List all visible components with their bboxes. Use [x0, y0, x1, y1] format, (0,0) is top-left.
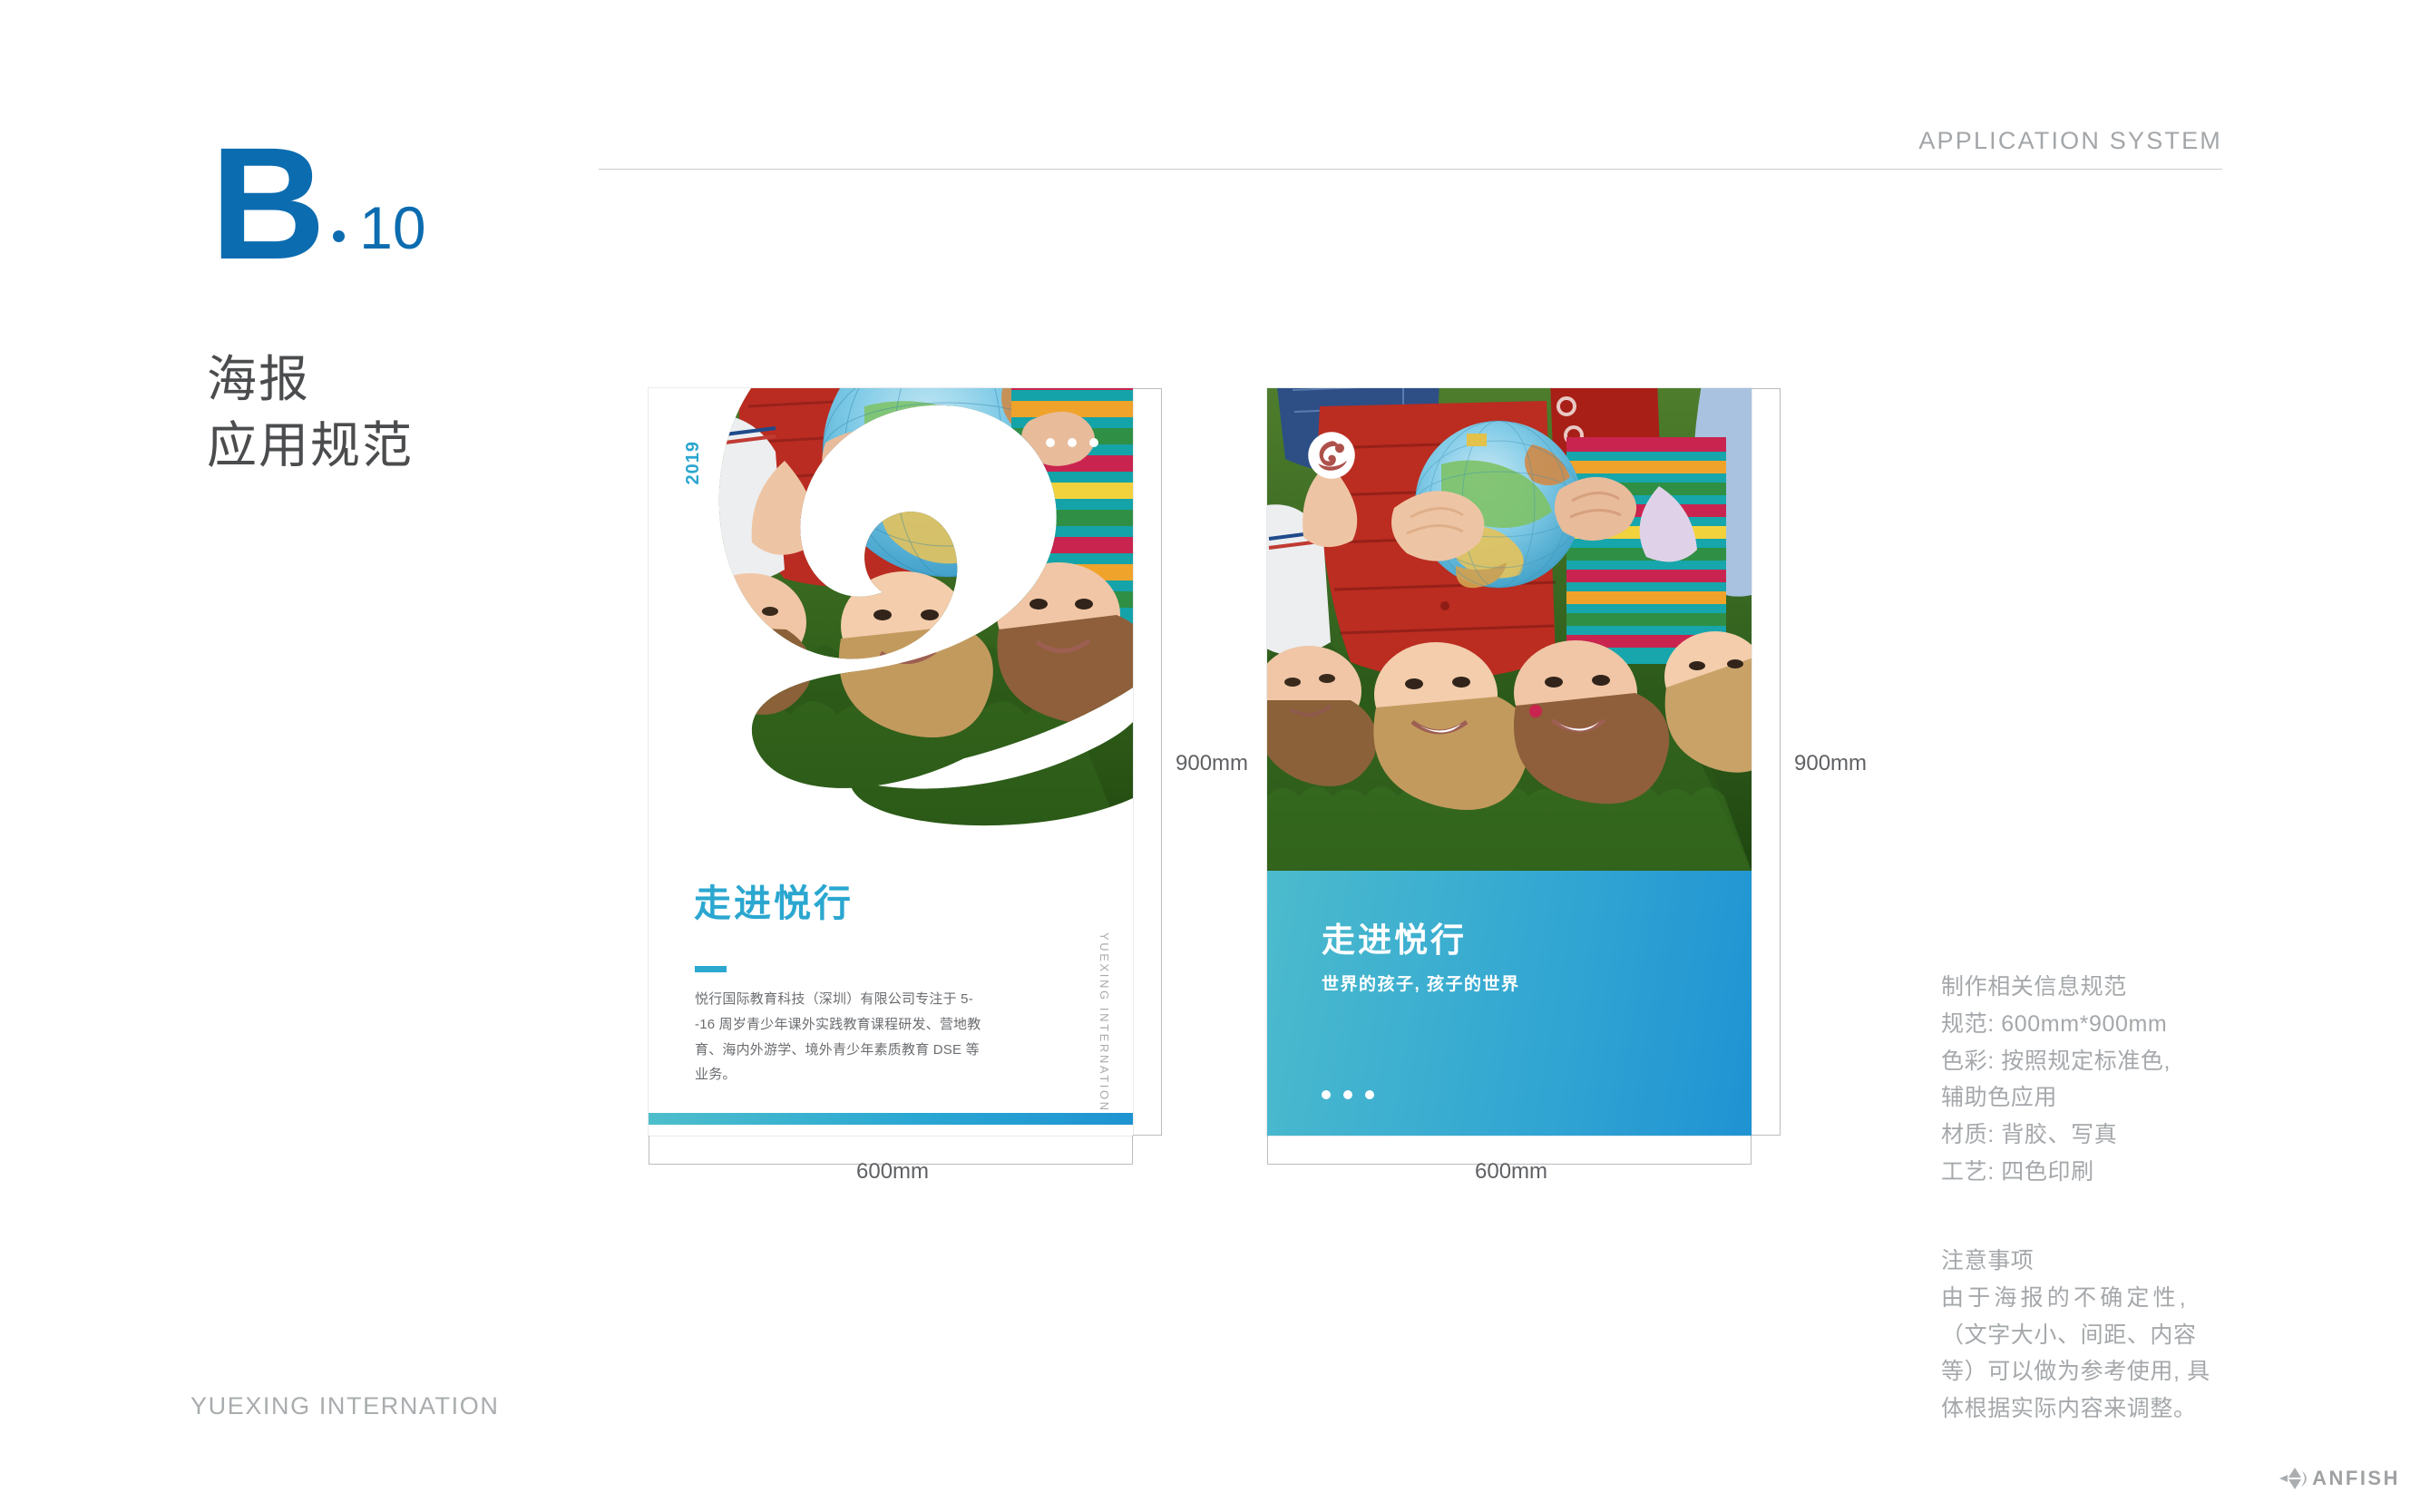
poster-2-height-label: 900mm	[1794, 751, 1867, 776]
poster-2-photo	[1267, 388, 1752, 871]
poster-1-height-label: 900mm	[1176, 751, 1248, 776]
brand-logo-icon	[1306, 430, 1357, 481]
poster-1-footer-bar	[649, 1113, 1133, 1125]
watermark-label: ANFISH	[2312, 1467, 2400, 1490]
notes-line: （文字大小、间距、内容	[1941, 1317, 2249, 1354]
dot	[1365, 1090, 1374, 1099]
page-title: 海报 应用规范	[207, 346, 414, 479]
dot	[1089, 438, 1098, 447]
notes-line: 等）可以做为参考使用, 具	[1941, 1353, 2249, 1390]
poster-1-year: 2019	[683, 441, 704, 485]
poster-1-title: 走进悦行	[694, 873, 854, 927]
spec-line: 色彩: 按照规定标准色,	[1941, 1043, 2249, 1080]
spec-line: 工艺: 四色印刷	[1941, 1154, 2249, 1191]
poster-1-accent-rule	[695, 966, 727, 972]
poster-1-photo	[649, 388, 1133, 864]
section-marker: B 10	[210, 138, 426, 272]
poster-1-height-guide	[1133, 388, 1162, 1136]
dot	[1343, 1090, 1352, 1099]
spec-line: 辅助色应用	[1941, 1079, 2249, 1117]
poster-1-width-label: 600mm	[856, 1159, 929, 1185]
notes-line: 体根据实际内容来调整。	[1941, 1390, 2249, 1428]
page-title-line-1: 海报	[207, 346, 414, 413]
dot	[1046, 438, 1055, 447]
poster-preview-2[interactable]: 走进悦行 世界的孩子, 孩子的世界 YUEXING INTERNATION	[1267, 388, 1752, 1136]
notes-line: 由于海报的不确定性,	[1941, 1280, 2249, 1317]
fish-icon	[2279, 1465, 2309, 1492]
section-separator-dot	[333, 230, 345, 242]
poster-guideline-page: APPLICATION SYSTEM B 10 海报 应用规范	[0, 0, 2420, 1512]
spec-heading: 制作相关信息规范	[1941, 969, 2249, 1006]
poster-1-dots	[1046, 438, 1098, 447]
poster-2-text-panel: 走进悦行 世界的孩子, 孩子的世界 YUEXING INTERNATION	[1267, 871, 1752, 1136]
spec-line: 规范: 600mm*900mm	[1941, 1006, 2249, 1043]
poster-2-height-guide	[1752, 388, 1781, 1136]
notes-heading: 注意事项	[1941, 1243, 2249, 1280]
footer-brand: YUEXING INTERNATION	[190, 1392, 499, 1420]
poster-2-dots	[1322, 1090, 1374, 1099]
notes-block: 注意事项 由于海报的不确定性, （文字大小、间距、内容 等）可以做为参考使用, …	[1941, 1243, 2249, 1428]
poster-preview-1[interactable]: 2019 走进悦行 悦行国际教育科技（深圳）有限公司专注于 5--16 周岁青少…	[649, 388, 1133, 1136]
spec-line: 材质: 背胶、写真	[1941, 1117, 2249, 1154]
poster-1-body-text: 悦行国际教育科技（深圳）有限公司专注于 5--16 周岁青少年课外实践教育课程研…	[695, 987, 985, 1088]
poster-1-masked-photo	[649, 388, 1133, 864]
header-divider	[599, 169, 2222, 170]
poster-2-width-label: 600mm	[1475, 1159, 1547, 1185]
dot	[1322, 1090, 1331, 1099]
poster-2-title: 走进悦行	[1322, 912, 1467, 961]
section-number: 10	[359, 198, 425, 258]
poster-1-vertical-brand: YUEXING INTERNATION	[1098, 932, 1111, 1113]
page-title-line-2: 应用规范	[207, 413, 414, 479]
watermark: ANFISH	[2279, 1465, 2400, 1492]
dot	[1068, 438, 1077, 447]
page-header-title: APPLICATION SYSTEM	[1918, 127, 2222, 155]
production-spec-block: 制作相关信息规范 规范: 600mm*900mm 色彩: 按照规定标准色, 辅助…	[1941, 969, 2249, 1191]
poster-2-subtitle: 世界的孩子, 孩子的世界	[1322, 971, 1520, 995]
section-letter: B	[210, 138, 322, 272]
